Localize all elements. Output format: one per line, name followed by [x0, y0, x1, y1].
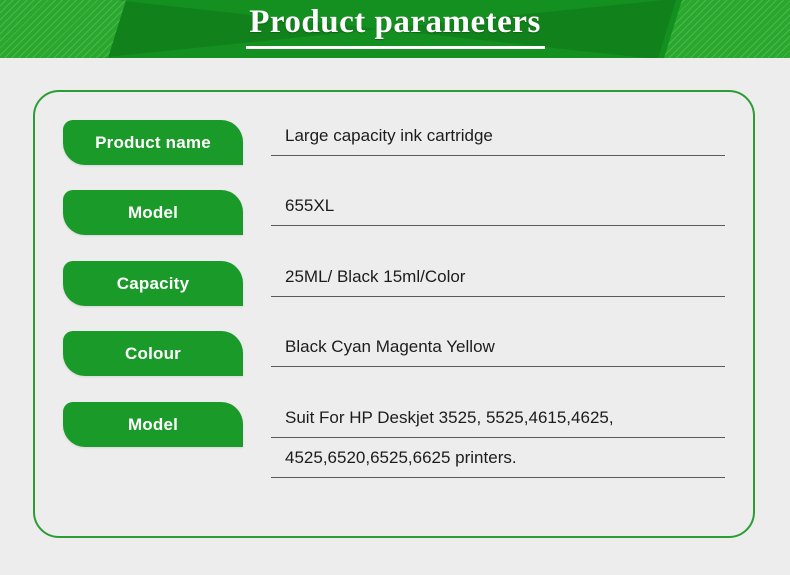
parameters-table: Product name Large capacity ink cartridg…	[35, 92, 753, 536]
parameters-card: Product name Large capacity ink cartridg…	[33, 90, 755, 538]
row-value-line: 4525,6520,6525,6625 printers.	[271, 438, 725, 478]
row-label-model: Model	[63, 190, 243, 235]
row-value-line: Suit For HP Deskjet 3525, 5525,4615,4625…	[271, 398, 725, 438]
row-value-line: Large capacity ink cartridge	[271, 116, 725, 156]
row-label-model-compat: Model	[63, 402, 243, 447]
row-value-model: 655XL	[271, 184, 725, 226]
row-label-product-name: Product name	[63, 120, 243, 165]
row-value-colour: Black Cyan Magenta Yellow	[271, 325, 725, 367]
row-value-line: Black Cyan Magenta Yellow	[271, 327, 725, 367]
row-value-product-name: Large capacity ink cartridge	[271, 114, 725, 156]
page-title: Product parameters	[0, 3, 790, 41]
row-value-line: 655XL	[271, 186, 725, 226]
table-row: Model 655XL	[35, 184, 753, 255]
row-label-capacity: Capacity	[63, 261, 243, 306]
row-value-line: 25ML/ Black 15ml/Color	[271, 257, 725, 297]
row-value-capacity: 25ML/ Black 15ml/Color	[271, 255, 725, 297]
row-value-model-compat: Suit For HP Deskjet 3525, 5525,4615,4625…	[271, 396, 725, 478]
title-underline	[246, 46, 545, 49]
row-label-colour: Colour	[63, 331, 243, 376]
table-row: Product name Large capacity ink cartridg…	[35, 114, 753, 184]
table-row: Capacity 25ML/ Black 15ml/Color	[35, 255, 753, 325]
table-row: Model Suit For HP Deskjet 3525, 5525,461…	[35, 396, 753, 506]
header-banner: Product parameters	[0, 0, 790, 58]
table-row: Colour Black Cyan Magenta Yellow	[35, 325, 753, 396]
